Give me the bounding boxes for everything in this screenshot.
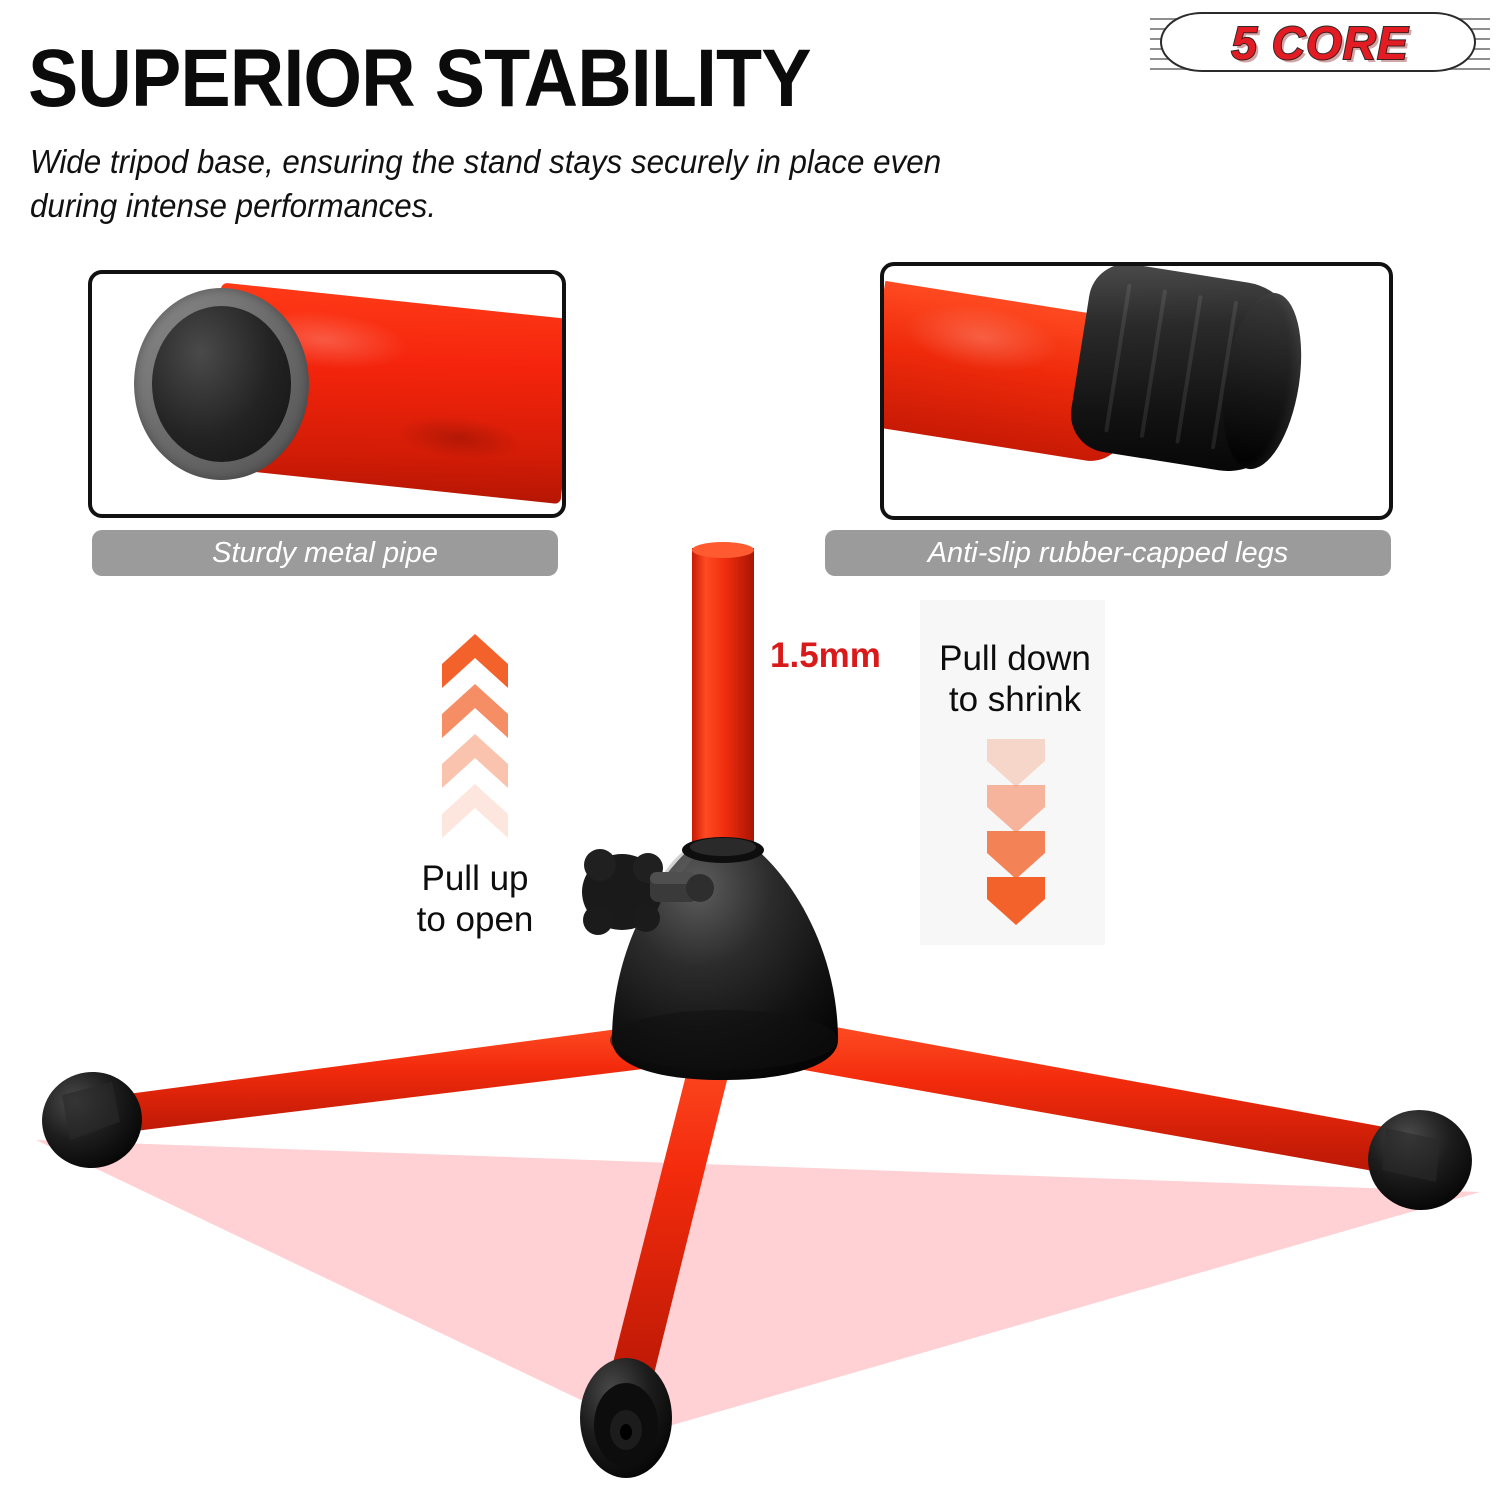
page-subtitle: Wide tripod base, ensuring the stand sta… (30, 140, 1009, 227)
page-title: SUPERIOR STABILITY (28, 38, 811, 120)
pipe-rim (134, 288, 309, 480)
tripod-stand-illustration (0, 520, 1500, 1500)
brand-logo: 5 CORE (1150, 8, 1490, 78)
pipe-bore (152, 306, 291, 462)
feature-card-pipe (88, 270, 566, 518)
rubber-cap-image (1065, 262, 1307, 480)
product-feature-graphic: 5 CORE SUPERIOR STABILITY Wide tripod ba… (0, 0, 1500, 1500)
footprint-triangle (36, 1140, 1480, 1432)
logo-wordmark: 5 CORE (1150, 8, 1490, 78)
center-pole (682, 542, 764, 863)
feature-card-legs (880, 262, 1393, 520)
